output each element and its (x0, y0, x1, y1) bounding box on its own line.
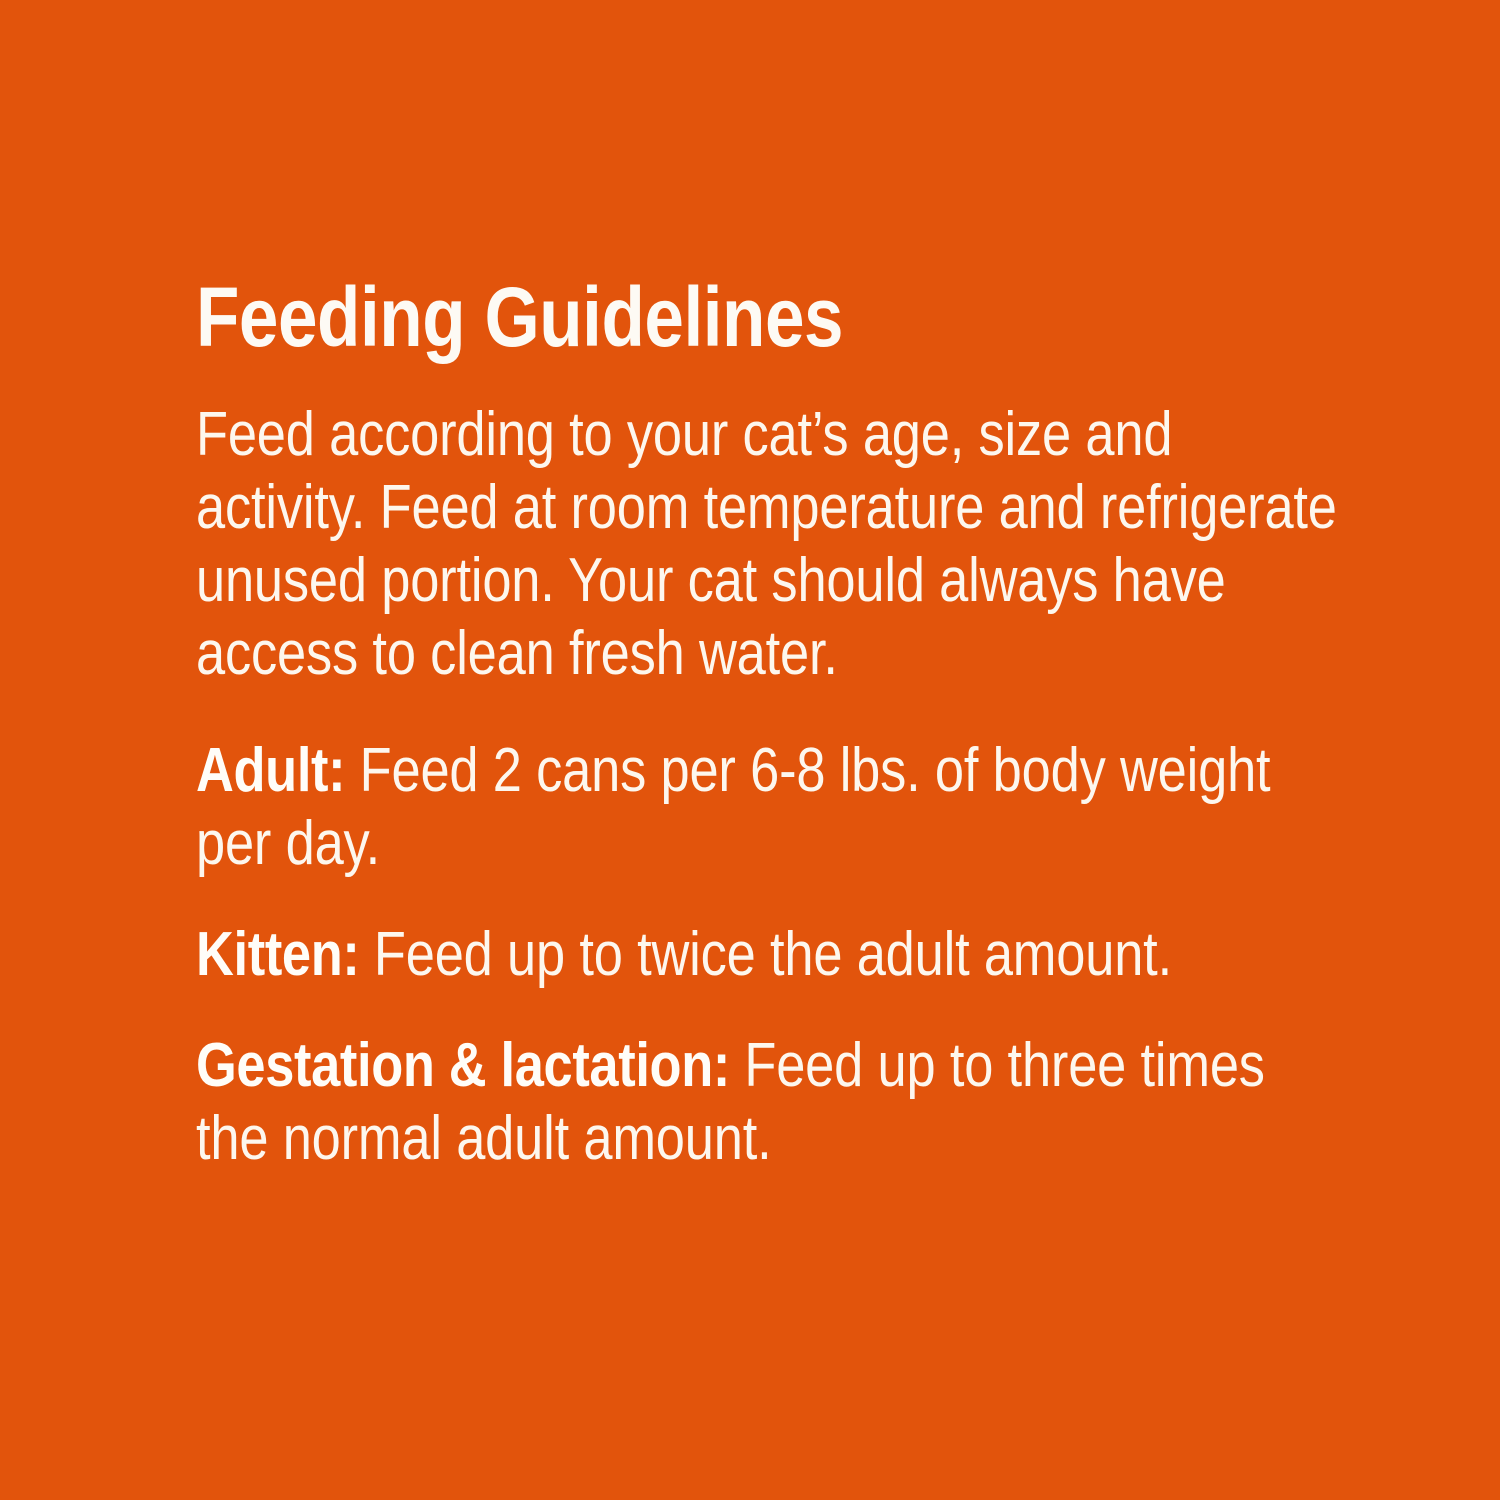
guideline-adult-label: Adult: (196, 736, 345, 805)
page-title-text: Feeding Guidelines (196, 272, 1345, 362)
guideline-kitten-line: Kitten: Feed up to twice the adult amoun… (196, 918, 1345, 991)
feeding-guidelines-panel: Feeding Guidelines Feed according to you… (0, 0, 1500, 1500)
guideline-adult-text: Feed 2 cans per 6-8 lbs. of body weight … (196, 736, 1285, 878)
guideline-gestation-lactation-label: Gestation & lactation: (196, 1031, 730, 1100)
page-title: Feeding Guidelines (196, 272, 1500, 362)
guideline-adult: Adult: Feed 2 cans per 6-8 lbs. of body … (196, 734, 1500, 880)
guideline-adult-line: Adult: Feed 2 cans per 6-8 lbs. of body … (196, 734, 1345, 880)
intro-paragraph-text: Feed according to your cat’s age, size a… (196, 398, 1345, 690)
content-column: Feeding Guidelines Feed according to you… (196, 272, 1376, 1175)
guideline-gestation-lactation: Gestation & lactation: Feed up to three … (196, 1029, 1500, 1175)
guideline-kitten-text: Feed up to twice the adult amount. (360, 920, 1172, 989)
guideline-gestation-lactation-line: Gestation & lactation: Feed up to three … (196, 1029, 1345, 1175)
intro-paragraph: Feed according to your cat’s age, size a… (196, 398, 1500, 690)
guideline-kitten: Kitten: Feed up to twice the adult amoun… (196, 918, 1500, 991)
guideline-kitten-label: Kitten: (196, 920, 360, 989)
